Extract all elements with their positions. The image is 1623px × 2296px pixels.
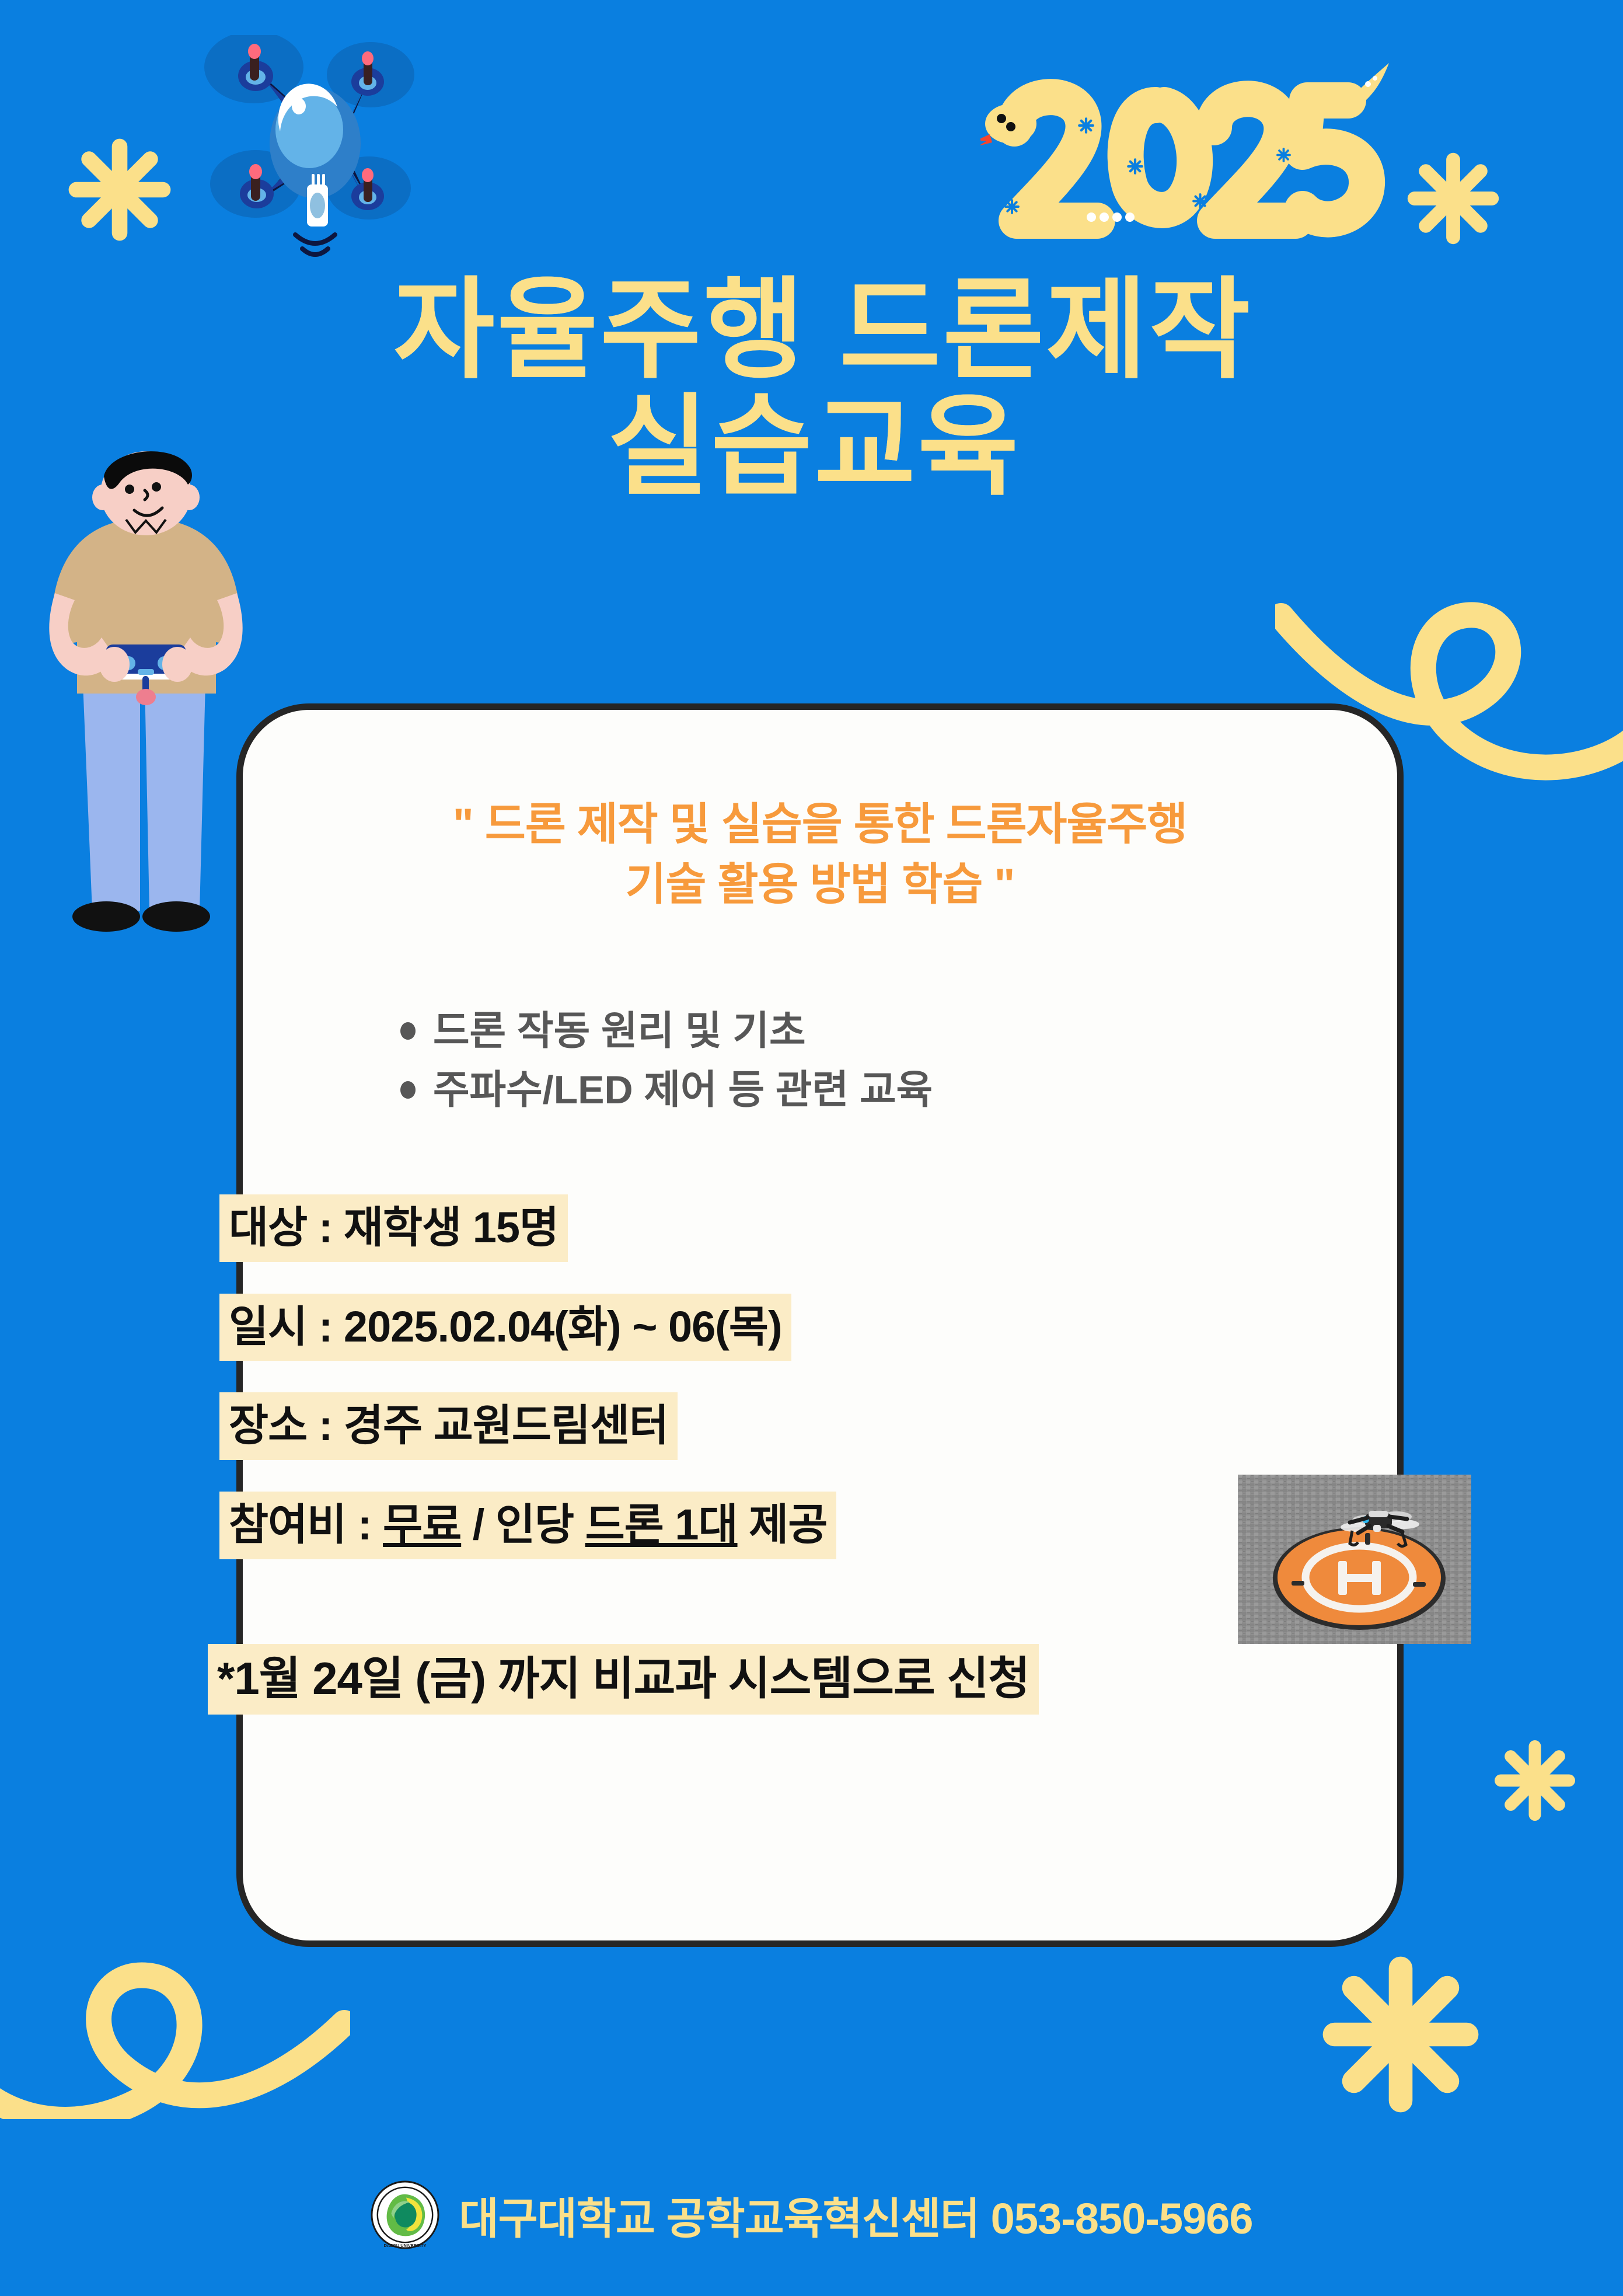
list-item: 주파수/LED 제어 등 관련 교육 (400, 1061, 933, 1120)
footer: DAEGU UNIVERSITY 대구대학교 공학교육혁신센터 053-850-… (0, 2180, 1623, 2249)
year-2025-snake-illustration (980, 58, 1389, 251)
bullet-label: 주파수/LED 제어 등 관련 교육 (433, 1061, 933, 1120)
bullet-dot-icon (400, 1081, 416, 1099)
poster-root: 자율주행 드론제작 실습교육 (0, 0, 1623, 2296)
info-list: 대상 : 재학생 15명 일시 : 2025.02.04(화) ~ 06(목) … (219, 1194, 1387, 1591)
info-row-place: 장소 : 경주 교원드림센터 (219, 1392, 1387, 1460)
quote-block: " 드론 제작 및 실습을 통한 드론자율주행 기술 활용 방법 학습 " (243, 795, 1397, 915)
person-with-controller-illustration (41, 450, 251, 934)
content-card: " 드론 제작 및 실습을 통한 드론자율주행 기술 활용 방법 학습 " 드론… (236, 703, 1404, 1947)
fee-prefix: 참여비 : (229, 1500, 383, 1549)
fee-drone: 드론 1대 (585, 1500, 738, 1549)
quote-line-1: " 드론 제작 및 실습을 통한 드론자율주행 (243, 795, 1397, 855)
logo-text-en: DAEGU UNIVERSITY (383, 2243, 426, 2248)
daegu-university-logo-icon: DAEGU UNIVERSITY (371, 2180, 439, 2249)
notice-text: *1월 24일 (금) 까지 비교과 시스템으로 신청 (208, 1644, 1039, 1715)
info-row-target: 대상 : 재학생 15명 (219, 1194, 1387, 1262)
info-date-text: 일시 : 2025.02.04(화) ~ 06(목) (219, 1294, 791, 1361)
bullet-list: 드론 작동 원리 및 기초 주파수/LED 제어 등 관련 교육 (400, 1002, 933, 1119)
fee-free: 무료 (383, 1500, 461, 1549)
quote-line-2: 기술 활용 방법 학습 " (243, 855, 1397, 915)
info-target-text: 대상 : 재학생 15명 (219, 1194, 568, 1262)
footer-contact-text: 대구대학교 공학교육혁신센터 053-850-5966 (459, 2184, 1253, 2246)
list-item: 드론 작동 원리 및 기초 (400, 1002, 933, 1061)
bullet-dot-icon (400, 1022, 416, 1040)
asterisk-decor-top-left (64, 134, 175, 245)
info-place-text: 장소 : 경주 교원드림센터 (219, 1392, 678, 1460)
asterisk-decor-bottom-right-large (1316, 1950, 1485, 2119)
info-row-fee: 참여비 : 무료 / 인당 드론 1대 제공 (219, 1492, 1387, 1559)
helipad-drone-photo (1238, 1475, 1471, 1644)
title-line-1: 자율주행 드론제작 (0, 274, 1623, 386)
fee-mid: / 인당 (461, 1500, 585, 1549)
asterisk-decor-bottom-right-small (1491, 1737, 1579, 1824)
info-row-date: 일시 : 2025.02.04(화) ~ 06(목) (219, 1294, 1387, 1361)
fee-suffix: 제공 (738, 1500, 828, 1549)
application-notice: *1월 24일 (금) 까지 비교과 시스템으로 신청 (208, 1644, 1410, 1715)
drone-illustration (193, 35, 496, 257)
info-fee-text: 참여비 : 무료 / 인당 드론 1대 제공 (219, 1492, 836, 1559)
asterisk-decor-top-right (1404, 149, 1503, 248)
bullet-label: 드론 작동 원리 및 기초 (433, 1002, 806, 1061)
